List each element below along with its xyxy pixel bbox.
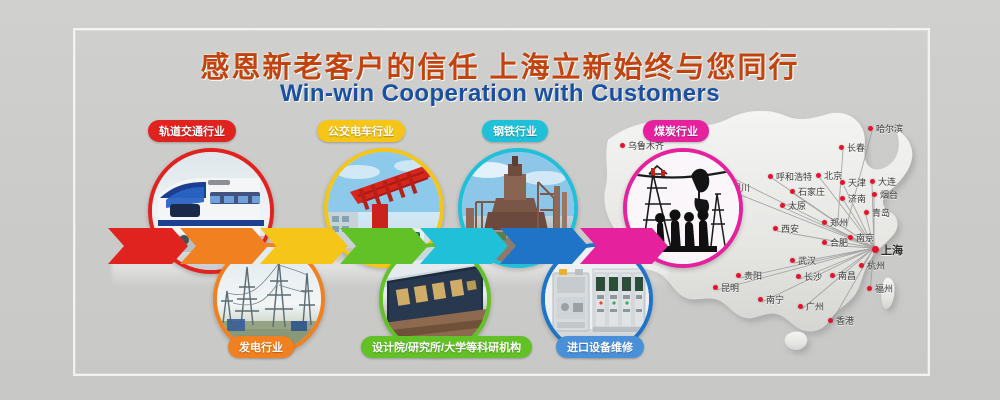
map-city-label: 哈尔滨 xyxy=(876,122,903,135)
map-city-label: 广州 xyxy=(806,300,824,313)
map-city-label: 西安 xyxy=(781,222,799,235)
map-city-dot xyxy=(816,173,821,178)
map-city-dot xyxy=(790,189,795,194)
map-city-label: 南昌 xyxy=(838,269,856,282)
map-city-dot xyxy=(798,304,803,309)
map-city-label: 南京 xyxy=(856,231,874,244)
map-city-dot xyxy=(839,145,844,150)
map-city-dot xyxy=(864,210,869,215)
map-city-dot xyxy=(768,174,773,179)
map-city-label: 香港 xyxy=(836,314,854,327)
industry-tag-coal[interactable]: 煤炭行业 xyxy=(643,120,709,142)
map-city-label: 南宁 xyxy=(766,293,784,306)
industry-tag-import[interactable]: 进口设备维修 xyxy=(556,336,644,358)
map-city-dot xyxy=(790,258,795,263)
map-city-dot xyxy=(830,273,835,278)
map-city-label: 太原 xyxy=(788,199,806,212)
map-city-label: 上海 xyxy=(881,242,903,258)
banner-stage: 哈尔滨长春乌鲁木齐呼和浩特北京天津大连银川石家庄济南烟台太原青岛郑州西安南京合肥… xyxy=(0,0,1000,400)
ribbon-segment-rail xyxy=(108,228,188,264)
map-city-label: 天津 xyxy=(848,176,866,189)
map-city-label: 烟台 xyxy=(880,188,898,201)
map-city-dot xyxy=(780,203,785,208)
map-city-dot xyxy=(758,297,763,302)
map-city-label: 杭州 xyxy=(867,259,885,272)
map-city-label: 昆明 xyxy=(721,281,739,294)
map-city-dot xyxy=(736,273,741,278)
map-city-dot xyxy=(868,126,873,131)
map-city-dot xyxy=(796,274,801,279)
map-city-dot xyxy=(822,240,827,245)
industry-tag-power[interactable]: 发电行业 xyxy=(228,336,294,358)
map-city-dot xyxy=(872,192,877,197)
map-city-dot xyxy=(773,226,778,231)
map-city-dot xyxy=(848,235,853,240)
map-city-label: 贵阳 xyxy=(744,269,762,282)
map-city-label: 合肥 xyxy=(830,236,848,249)
map-city-label: 北京 xyxy=(824,169,842,182)
map-city-dot xyxy=(840,196,845,201)
map-city-dot xyxy=(867,286,872,291)
map-city-label: 青岛 xyxy=(872,206,890,219)
map-city-dot xyxy=(828,318,833,323)
banner-title-en: Win-win Cooperation with Customers xyxy=(0,80,1000,108)
industry-tag-steel[interactable]: 钢铁行业 xyxy=(482,120,548,142)
map-city-dot xyxy=(822,220,827,225)
map-city-dot xyxy=(870,179,875,184)
industry-tag-bus[interactable]: 公交电车行业 xyxy=(317,120,405,142)
map-city-label: 长沙 xyxy=(804,270,822,283)
map-city-dot xyxy=(859,263,864,268)
map-city-dot xyxy=(620,143,625,148)
map-city-label: 石家庄 xyxy=(798,185,825,198)
industry-tag-institute[interactable]: 设计院/研究所/大学等科研机构 xyxy=(361,336,532,358)
map-city-label: 郑州 xyxy=(830,216,848,229)
map-city-dot xyxy=(872,246,879,253)
map-city-label: 济南 xyxy=(848,192,866,205)
map-city-label: 呼和浩特 xyxy=(776,170,812,183)
map-city-dot xyxy=(713,285,718,290)
map-city-label: 武汉 xyxy=(798,254,816,267)
map-city-label: 福州 xyxy=(875,282,893,295)
industry-tag-rail[interactable]: 轨道交通行业 xyxy=(148,120,236,142)
map-city-label: 长春 xyxy=(847,141,865,154)
map-city-dot xyxy=(840,180,845,185)
map-city-label: 大连 xyxy=(878,175,896,188)
